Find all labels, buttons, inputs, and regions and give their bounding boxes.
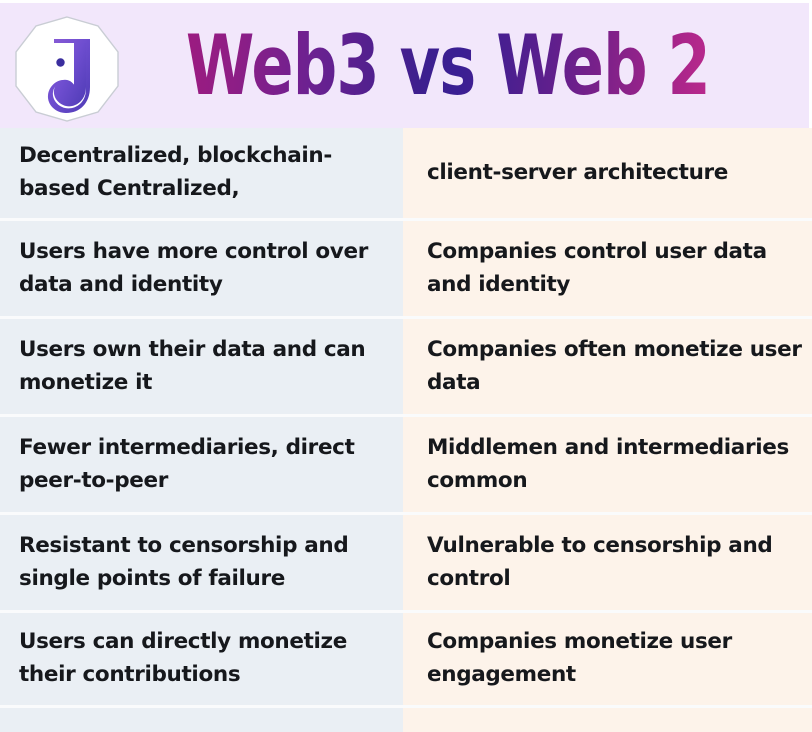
page-title-text: Web3 vs Web 2 [185, 24, 709, 107]
web2-cell-text: Companies often monetize user data [427, 334, 802, 399]
web3-cell [0, 708, 403, 732]
web3-cell: Users have more control over data and id… [0, 221, 403, 316]
web2-cell [403, 708, 812, 732]
web2-cell: Companies monetize user engagement [403, 613, 812, 705]
web2-cell: Vulnerable to censorship and control [403, 515, 812, 610]
web2-cell-text: Companies control user data and identity [427, 236, 802, 301]
table-row: Users have more control over data and id… [0, 218, 812, 316]
j-elephant-logo [12, 13, 122, 125]
web2-cell: Middlemen and intermediaries common [403, 417, 812, 512]
table-row: Users can directly monetize their contri… [0, 610, 812, 705]
web2-cell-text: Companies monetize user engagement [427, 626, 802, 691]
web3-cell: Fewer intermediaries, direct peer-to-pee… [0, 417, 403, 512]
web3-cell-text: Users have more control over data and id… [19, 236, 393, 301]
table-row: Decentralized, blockchain-based Centrali… [0, 128, 812, 218]
table-row: Users own their data and can monetize it… [0, 316, 812, 414]
web3-cell-text: Fewer intermediaries, direct peer-to-pee… [19, 432, 393, 497]
web3-cell: Decentralized, blockchain-based Centrali… [0, 128, 403, 218]
web2-cell: client-server architecture [403, 128, 812, 218]
web2-cell: Companies often monetize user data [403, 319, 812, 414]
comparison-table: Decentralized, blockchain-based Centrali… [0, 128, 812, 732]
web2-cell-text: client-server architecture [427, 157, 728, 190]
web3-cell: Resistant to censorship and single point… [0, 515, 403, 610]
web3-cell: Users can directly monetize their contri… [0, 613, 403, 705]
web2-cell-text: Vulnerable to censorship and control [427, 530, 802, 595]
web3-cell-text: Users own their data and can monetize it [19, 334, 393, 399]
web2-cell-text: Middlemen and intermediaries common [427, 432, 802, 497]
web3-vs-web2-infographic: Web3 vs Web 2 Decentralized, blockchain-… [0, 0, 812, 732]
table-row: Resistant to censorship and single point… [0, 512, 812, 610]
web3-cell-text: Resistant to censorship and single point… [19, 530, 393, 595]
table-rows: Decentralized, blockchain-based Centrali… [0, 128, 812, 732]
web3-cell-text: Users can directly monetize their contri… [19, 626, 393, 691]
table-row: Fewer intermediaries, direct peer-to-pee… [0, 414, 812, 512]
table-row [0, 705, 812, 732]
web3-cell: Users own their data and can monetize it [0, 319, 403, 414]
web2-cell: Companies control user data and identity [403, 221, 812, 316]
header-banner: Web3 vs Web 2 [0, 0, 812, 128]
web3-cell-text: Decentralized, blockchain-based Centrali… [19, 140, 393, 205]
